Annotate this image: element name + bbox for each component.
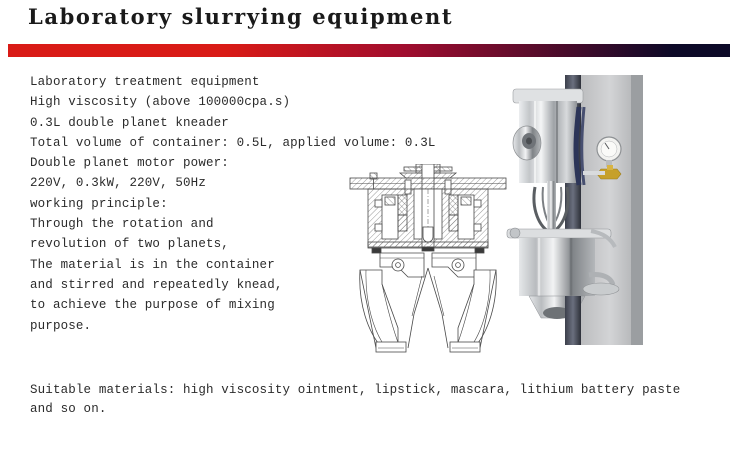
slide-canvas: Laboratory slurrying equipment Laborator… <box>0 0 730 450</box>
product-photo-lab-mixer <box>505 61 665 366</box>
spec-line: Laboratory treatment equipment <box>30 72 450 92</box>
accent-bar-divider <box>8 44 730 57</box>
spec-line: High viscosity (above 100000cpa.s) <box>30 92 450 112</box>
technical-drawing-double-planetary-mixer <box>342 164 514 366</box>
spec-line: Total volume of container: 0.5L, applied… <box>30 133 450 153</box>
spec-line: 0.3L double planet kneader <box>30 113 450 133</box>
materials-line: Suitable materials: high viscosity ointm… <box>30 381 710 400</box>
materials-line: and so on. <box>30 400 710 419</box>
suitable-materials-text-block: Suitable materials: high viscosity ointm… <box>30 381 710 419</box>
page-title: Laboratory slurrying equipment <box>28 4 453 29</box>
